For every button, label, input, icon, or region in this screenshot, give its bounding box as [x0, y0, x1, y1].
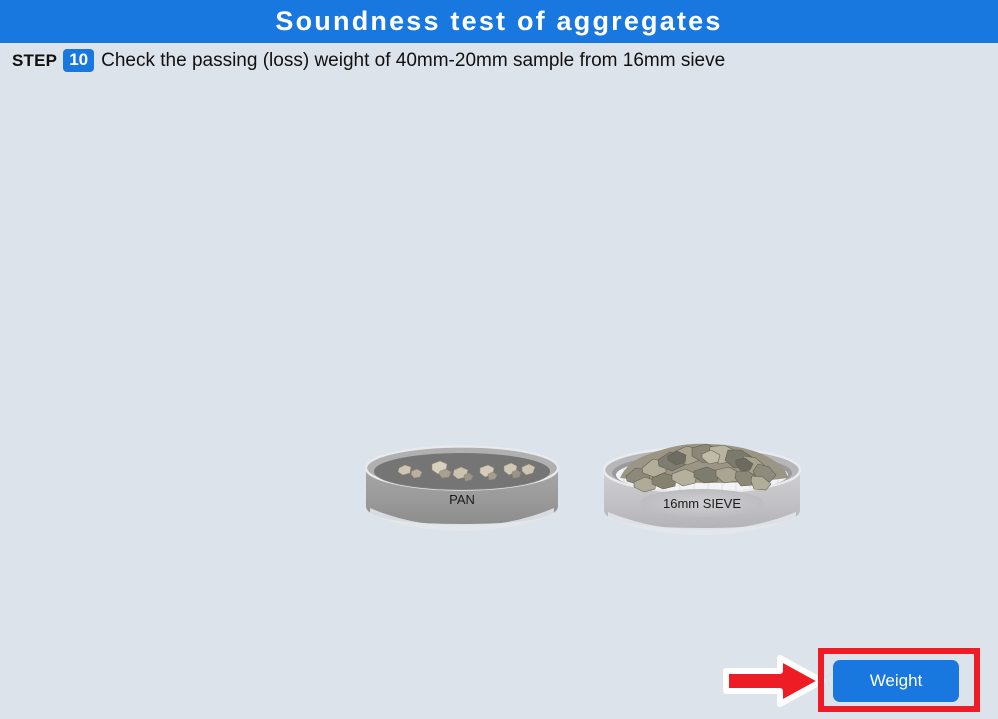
step-bar: STEP 10 Check the passing (loss) weight …	[0, 43, 998, 78]
sieve-label: 16mm SIEVE	[663, 496, 741, 511]
step-number-badge: 10	[63, 49, 94, 72]
sieve-vessel: 16mm SIEVE	[604, 444, 800, 535]
step-description: Check the passing (loss) weight of 40mm-…	[101, 50, 725, 72]
app-window: Soundness test of aggregates STEP 10 Che…	[0, 0, 998, 719]
pan-label: PAN	[449, 492, 475, 507]
vessels-illustration: PAN	[352, 438, 812, 558]
vessel-group: PAN	[352, 438, 812, 558]
step-label: STEP	[12, 51, 57, 71]
page-title: Soundness test of aggregates	[275, 8, 722, 35]
illustration-stage: PAN	[0, 78, 998, 719]
app-title-bar: Soundness test of aggregates	[0, 0, 998, 43]
weight-button[interactable]: Weight	[833, 660, 959, 702]
pointer-arrow	[722, 655, 826, 707]
arrow-shape	[726, 658, 822, 704]
pan-vessel: PAN	[366, 447, 558, 532]
arrow-right-icon	[722, 655, 826, 707]
